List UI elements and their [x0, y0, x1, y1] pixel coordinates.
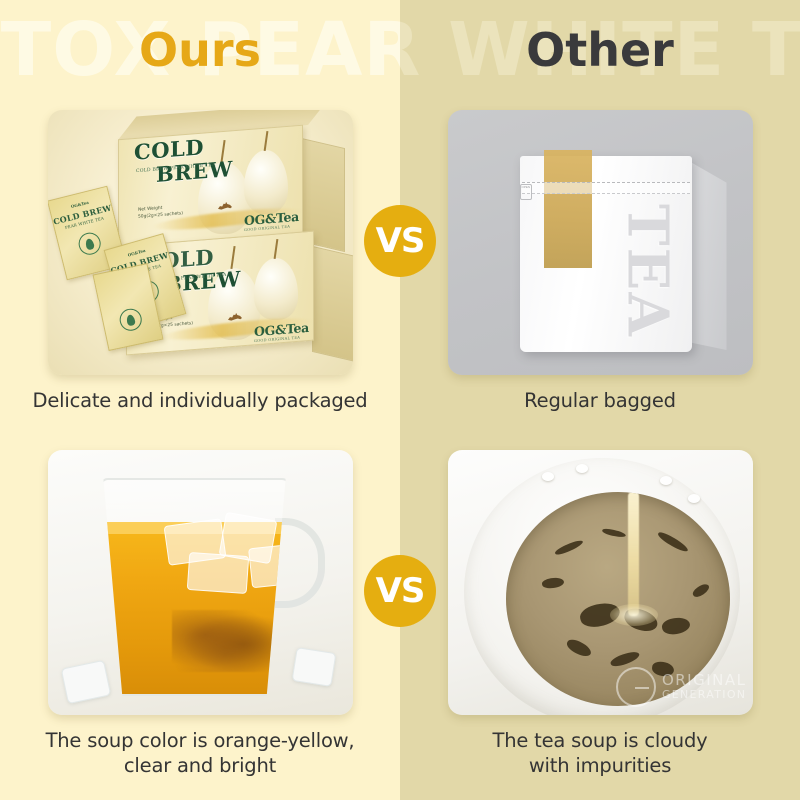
water-droplet: [542, 472, 554, 481]
watermark-line1: ORIGINAL: [662, 671, 747, 689]
header-row: Ours Other: [0, 0, 800, 100]
tea-debris: [660, 616, 690, 637]
pear-emblem-icon: [76, 230, 103, 257]
comparison-infographic: DETOX PEAR WHITE TEA DETOX PEAR WHITE TE…: [0, 0, 800, 800]
pouring-tea-stream: [628, 492, 639, 616]
ours-brewed-tea-caption: The soup color is orange-yellow, clear a…: [20, 729, 380, 779]
tea-debris: [553, 538, 583, 557]
other-brewed-tea-card: ORIGINAL GENERATION: [448, 450, 753, 715]
header-cell-other: Other: [400, 0, 800, 100]
water-droplet: [576, 464, 588, 473]
water-droplet: [660, 476, 672, 485]
pouch-side-gusset: [691, 162, 727, 350]
comparison-row-packaging: VS COLD BREW COLD BREW PEAR WHITE: [0, 100, 800, 440]
cell-other-brewed-tea: ORIGINAL GENERATION The tea soup is clou…: [400, 440, 800, 800]
pour-splash: [610, 604, 658, 626]
pear-emblem-icon: [117, 307, 143, 333]
box-side-bottom: [312, 246, 353, 362]
watermark-wordmark: ORIGINAL GENERATION: [662, 672, 747, 702]
product-boxes-photo: COLD BREW COLD BREW PEAR WHITE TEA Net W…: [48, 110, 353, 375]
vs-badge-label: VS: [376, 221, 425, 261]
other-brewed-tea-caption-line1: The tea soup is cloudy: [492, 729, 707, 752]
water-droplet: [688, 494, 700, 503]
pitcher-handle: [275, 518, 325, 608]
clear-orange-iced-tea-photo: [48, 450, 353, 715]
ours-title: Ours: [139, 27, 261, 73]
cell-ours-brewed-tea: The soup color is orange-yellow, clear a…: [0, 440, 400, 800]
pouch-zipper-seal: [522, 182, 690, 194]
ours-packaging-card: COLD BREW COLD BREW PEAR WHITE TEA Net W…: [48, 110, 353, 375]
vs-badge-brewed-tea: VS: [364, 555, 436, 627]
header-cell-ours: Ours: [0, 0, 400, 100]
vs-badge-label: VS: [376, 571, 425, 611]
other-brewed-tea-caption: The tea soup is cloudy with impurities: [420, 729, 780, 779]
glass-pitcher: [100, 478, 290, 696]
pear-illustration: [254, 258, 298, 320]
ours-brewed-tea-caption-line2: clear and bright: [124, 754, 276, 777]
vs-badge-packaging: VS: [364, 205, 436, 277]
g-logo-icon: [616, 667, 656, 707]
ice-cube: [291, 647, 336, 687]
tea-debris: [691, 582, 711, 600]
tea-debris: [564, 637, 593, 659]
ice-cube: [60, 660, 111, 704]
pouch-emboss-text: TEA: [620, 204, 676, 338]
steeped-tea-leaves: [172, 610, 282, 672]
other-brewed-tea-caption-line2: with impurities: [529, 754, 671, 777]
cloudy-tea-cup-photo: ORIGINAL GENERATION: [448, 450, 753, 715]
ours-packaging-caption: Delicate and individually packaged: [20, 389, 380, 414]
tea-debris: [601, 528, 626, 539]
cell-ours-packaging: COLD BREW COLD BREW PEAR WHITE TEA Net W…: [0, 100, 400, 440]
ours-brewed-tea-card: [48, 450, 353, 715]
other-packaging-card: TEA OPEN: [448, 110, 753, 375]
pouch-gold-label: [544, 150, 592, 268]
other-title: Other: [526, 27, 674, 73]
plain-white-pouch-photo: TEA OPEN: [448, 110, 753, 375]
comparison-row-brewed-tea: VS: [0, 440, 800, 800]
tea-debris: [609, 649, 641, 669]
pear-illustration: [244, 150, 288, 214]
ours-brewed-tea-caption-line1: The soup color is orange-yellow,: [46, 729, 355, 752]
watermark-line2: GENERATION: [662, 689, 747, 702]
pouch-zip-label: OPEN: [520, 184, 532, 200]
cell-other-packaging: TEA OPEN Regular bagged: [400, 100, 800, 440]
tea-debris: [541, 577, 564, 590]
ice-cube: [186, 552, 249, 594]
other-packaging-caption: Regular bagged: [420, 389, 780, 414]
original-generation-watermark: ORIGINAL GENERATION: [616, 667, 747, 707]
tea-debris: [656, 530, 689, 554]
